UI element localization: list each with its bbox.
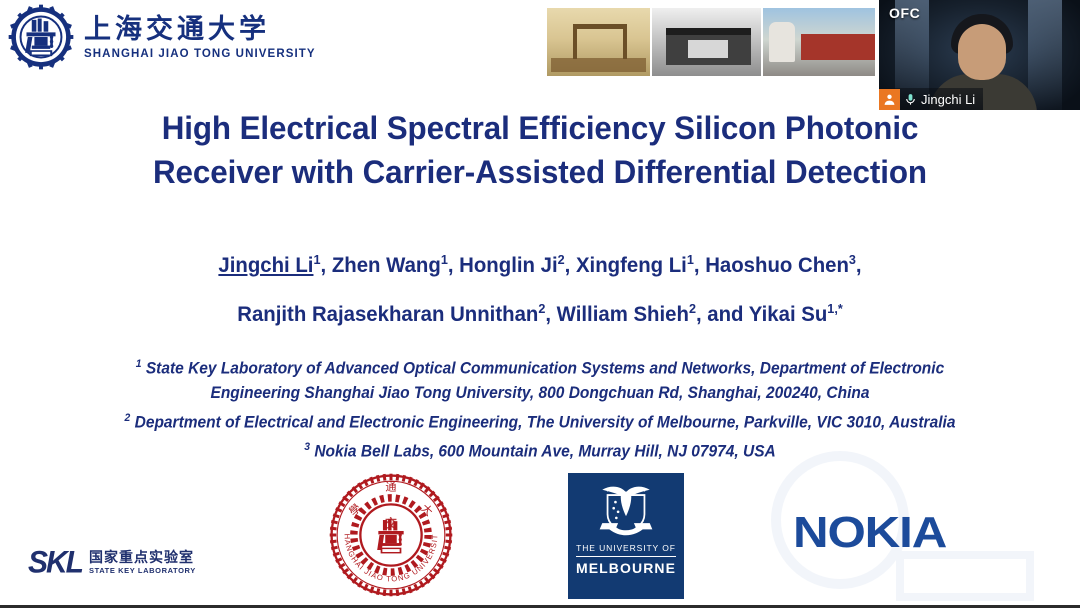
author-name: Xingfeng Li [576,254,687,277]
author-affiliation-marker: 3 [849,252,856,267]
melbourne-logo-icon: THE UNIVERSITY OF MELBOURNE [568,473,684,599]
title-line-2: Receiver with Carrier-Assisted Different… [19,150,1061,194]
stone-lion-color-photo [763,8,877,76]
author-line-2: Ranjith Rajasekharan Unnithan2, William … [16,287,1064,336]
affiliation-line: 1 State Key Laboratory of Advanced Optic… [32,352,1047,381]
author-affiliation-marker: 1 [441,252,448,267]
affiliation-line: Engineering Shanghai Jiao Tong Universit… [32,381,1047,406]
affiliation-list: 1 State Key Laboratory of Advanced Optic… [32,352,1047,464]
author-affiliation-marker: 2 [538,301,545,316]
author-name: Yikai Su [749,303,828,326]
author-affiliation-marker: 2 [689,301,696,316]
svg-text:交: 交 [385,516,398,531]
author-separator: , [320,254,331,277]
backdrop-light-right [1028,0,1062,110]
historic-gate-sepia-photo [547,8,650,76]
svg-text:通: 通 [385,480,396,493]
sjtu-seal-icon: 交 學 大 通 SHANGHAI JIAO TONG UNIVERSITY [322,470,460,600]
author-separator: , [565,254,576,277]
campus-history-photo-strip [547,8,877,76]
sjtu-gear-emblem-icon [8,4,74,70]
author-affiliation-marker: 1 [687,252,694,267]
affiliation-text: Nokia Bell Labs, 600 Mountain Ave, Murra… [310,442,776,460]
affiliation-text: Engineering Shanghai Jiao Tong Universit… [210,384,869,402]
skl-logo-icon: SKL 国家重点实验室 STATE KEY LABORATORY [28,548,196,578]
author-line-1: Jingchi Li1, Zhen Wang1, Honglin Ji2, Xi… [16,238,1064,287]
author-name: Jingchi Li [218,254,313,277]
university-name-cn: 上海交通大学 [84,14,316,45]
author-name: Haoshuo Chen [705,254,849,277]
author-separator: , [448,254,459,277]
author-separator: , [694,254,705,277]
skl-name-cn: 国家重点实验室 [89,551,196,566]
historic-building-bw-photo [650,8,763,76]
slide-title: High Electrical Spectral Efficiency Sili… [19,106,1061,194]
svg-text:學: 學 [347,502,364,519]
affiliation-line: 3 Nokia Bell Labs, 600 Mountain Ave, Mur… [32,435,1047,464]
meeting-label: OFC [889,5,920,21]
author-name: Zhen Wang [332,254,441,277]
title-line-1: High Electrical Spectral Efficiency Sili… [162,110,919,146]
participant-name-label: Jingchi Li [921,93,975,106]
video-participant-tile[interactable]: OFC Jingchi Li [875,0,1080,113]
author-name: Honglin Ji [459,254,557,277]
melbourne-line-1: THE UNIVERSITY OF [576,543,676,557]
author-separator: , [856,254,862,277]
author-affiliation-marker: 1 [313,252,320,267]
microphone-icon [904,92,917,107]
melbourne-crest-icon [595,481,657,539]
melbourne-line-2: MELBOURNE [576,560,676,576]
author-name: Ranjith Rajasekharan Unnithan [237,303,538,326]
skl-monogram: SKL [28,547,82,579]
participant-face [958,24,1006,80]
affiliation-text: State Key Laboratory of Advanced Optical… [142,360,945,378]
affiliation-line: 2 Department of Electrical and Electroni… [32,406,1047,435]
skl-name-en: STATE KEY LABORATORY [89,567,196,575]
author-name: William Shieh [557,303,689,326]
author-affiliation-marker: 1,* [827,301,842,316]
sjtu-header-logo: 上海交通大学 SHANGHAI JIAO TONG UNIVERSITY [8,4,316,70]
sjtu-header-wordmark: 上海交通大学 SHANGHAI JIAO TONG UNIVERSITY [84,14,316,60]
affiliation-text: Department of Electrical and Electronic … [130,413,955,431]
author-separator: , and [696,303,749,326]
author-list: Jingchi Li1, Zhen Wang1, Honglin Ji2, Xi… [16,238,1064,336]
university-name-en: SHANGHAI JIAO TONG UNIVERSITY [84,48,316,60]
presentation-slide: 上海交通大学 SHANGHAI JIAO TONG UNIVERSITY OFC… [0,0,1080,608]
skl-wordmark: 国家重点实验室 STATE KEY LABORATORY [89,551,196,575]
nokia-logo-icon: NOKIA [793,508,946,558]
author-separator: , [545,303,556,326]
